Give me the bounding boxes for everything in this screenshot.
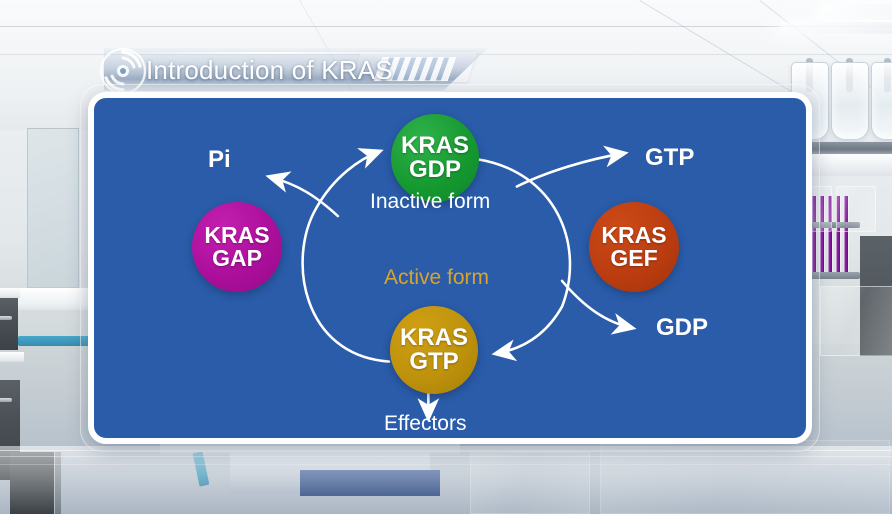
cabinet-handle — [0, 398, 12, 402]
node-kras-gef[interactable]: KRAS GEF — [589, 202, 679, 292]
label-gtp: GTP — [645, 144, 694, 172]
node-kras-gap[interactable]: KRAS GAP — [192, 202, 282, 292]
wall-glass-panel — [27, 128, 79, 288]
node-label-line2: GTP — [409, 350, 458, 374]
ceiling-light — [778, 22, 892, 34]
label-pi: Pi — [208, 146, 231, 174]
node-label-line1: KRAS — [401, 134, 469, 158]
cabinet-countertop — [0, 288, 20, 298]
arrow-gdp-to-gtp — [476, 159, 570, 354]
label-inactive-form: Inactive form — [370, 190, 490, 214]
glass-cabinet-door — [820, 286, 892, 356]
title-bar-highlight — [114, 52, 434, 54]
node-label-line2: GAP — [212, 247, 262, 270]
page-title: Introduction of KRAS — [146, 55, 393, 86]
label-effectors: Effectors — [384, 412, 466, 436]
node-kras-gtp[interactable]: KRAS GTP — [390, 306, 478, 394]
hanging-flask — [871, 62, 892, 140]
node-label-line1: KRAS — [204, 224, 269, 247]
node-label-line2: GDP — [409, 158, 461, 182]
cabinet-handle — [0, 316, 12, 320]
label-gdp: GDP — [656, 314, 708, 342]
kras-cycle-diagram: KRAS GDP KRAS GAP KRAS GEF KRAS GTP Inac… — [88, 92, 812, 444]
arrow-gtp-to-gdp — [303, 151, 389, 361]
node-label-line1: KRAS — [400, 326, 468, 350]
node-label-line2: GEF — [610, 247, 657, 270]
arrow-gtp-input — [517, 153, 625, 186]
arrow-pi-release — [269, 177, 338, 216]
cabinet — [0, 298, 18, 350]
ceiling-light — [817, 4, 892, 20]
node-label-line1: KRAS — [601, 224, 666, 247]
ceiling-seam — [0, 26, 892, 27]
glass-beaker — [836, 186, 876, 232]
hanging-flask — [831, 62, 869, 140]
glass-reflection — [470, 452, 590, 514]
cabinet-countertop — [0, 352, 24, 362]
node-kras-gdp[interactable]: KRAS GDP — [391, 114, 479, 202]
label-active-form: Active form — [384, 266, 489, 290]
